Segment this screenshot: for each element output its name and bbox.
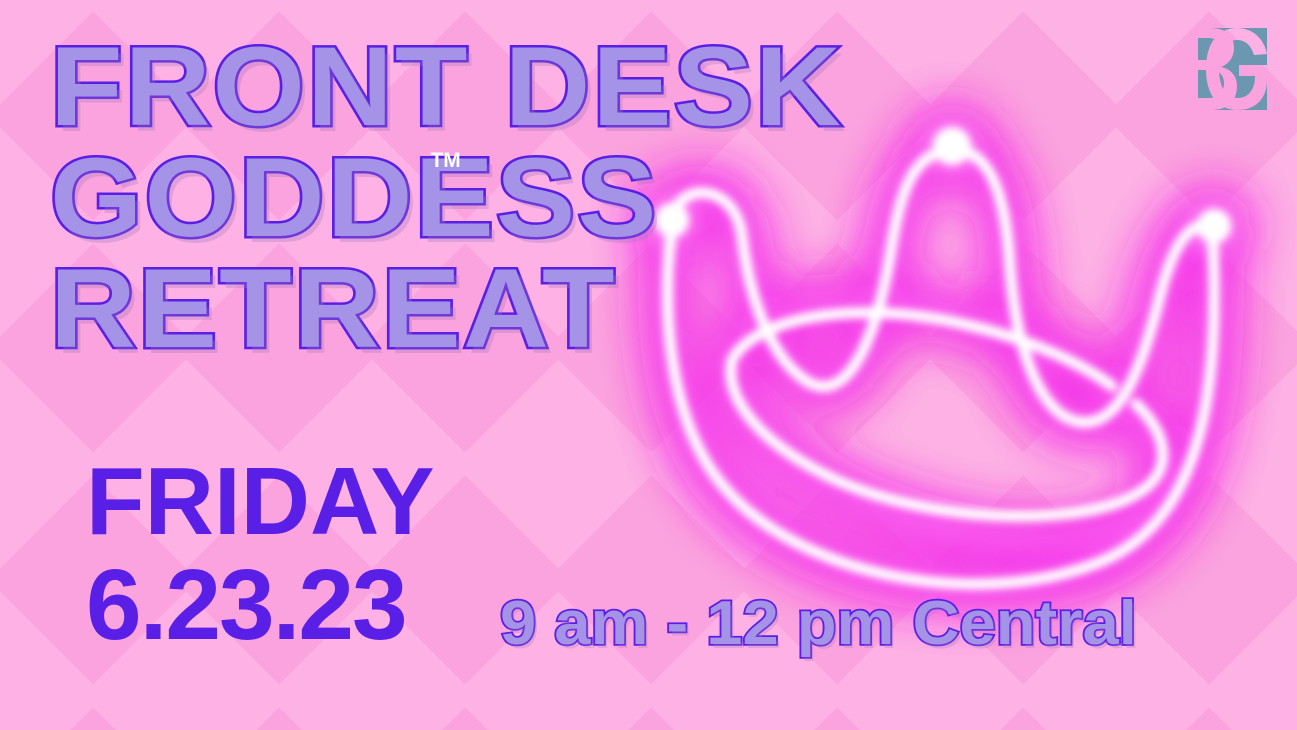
bg-logo	[1171, 10, 1281, 125]
bg-logo-icon	[1171, 10, 1281, 125]
promo-poster: FRONT DESK GODDESS TM RETREAT FRIDAY 6.2…	[0, 0, 1297, 730]
event-day: FRIDAY	[86, 452, 435, 553]
headline-line-3: RETREAT	[50, 254, 843, 365]
event-time: 9 am - 12 pm Central	[500, 588, 1137, 659]
headline-line-2: GODDESS TM	[50, 143, 843, 254]
trademark-symbol: TM	[430, 151, 460, 172]
headline-block: FRONT DESK GODDESS TM RETREAT	[50, 32, 798, 365]
headline-line-1: FRONT DESK	[50, 32, 843, 143]
headline-line-2-text: GODDESS	[50, 135, 659, 260]
date-block: FRIDAY 6.23.23	[86, 452, 435, 658]
event-date: 6.23.23	[86, 553, 435, 658]
